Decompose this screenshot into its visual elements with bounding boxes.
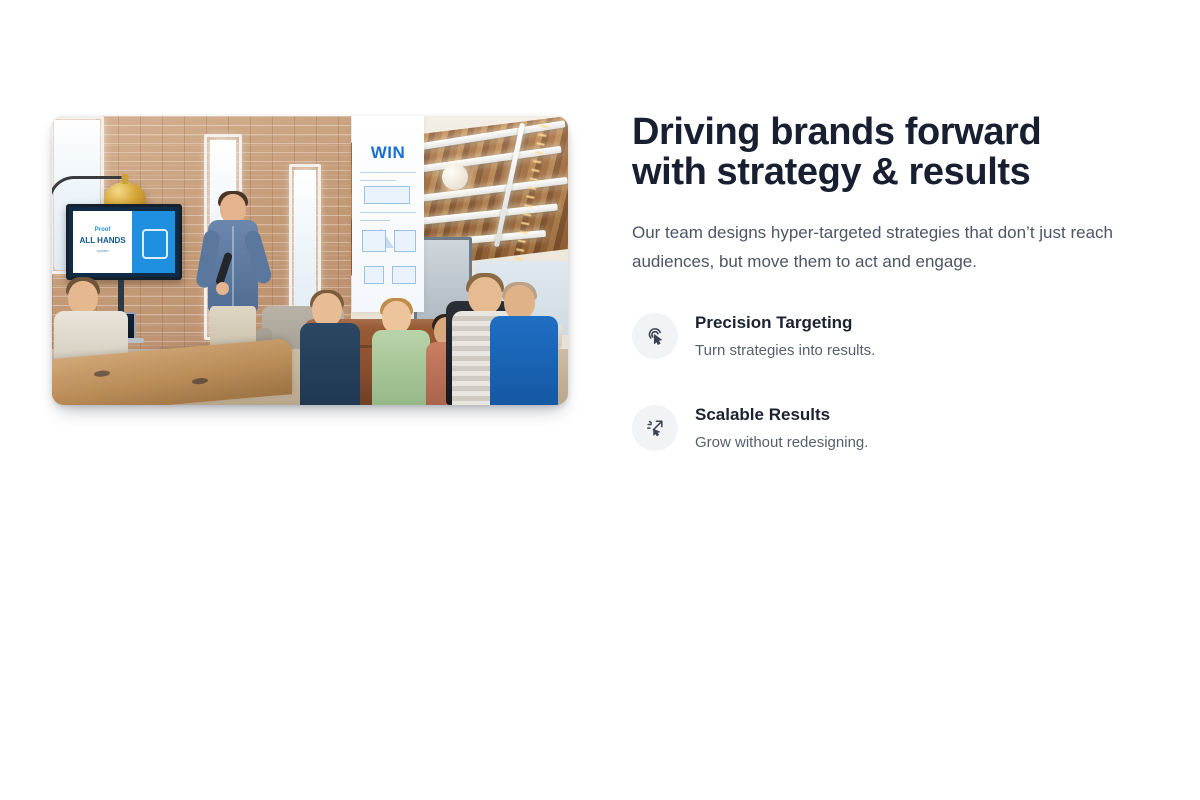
poster-shape [392,266,416,284]
landing-feature-section: WIN Proof ALL HANDS [0,0,1200,800]
feature-item-scalable-results: Scalable Results Grow without redesignin… [632,403,1152,453]
feature-item-precision-targeting: Precision Targeting Turn strategies into… [632,311,1152,361]
slide-right [132,211,175,273]
poster-line [360,220,390,221]
head [68,281,98,315]
audience-member [372,301,434,405]
torso [372,330,430,405]
growth-arrow-icon [632,405,678,451]
feature-text: Scalable Results Grow without redesignin… [695,403,868,453]
hero-image: WIN Proof ALL HANDS [52,116,568,405]
head [312,293,342,327]
slide-caption: update [73,249,132,253]
feature-title: Precision Targeting [695,312,875,334]
presentation-screen: Proof ALL HANDS update [66,204,182,280]
feature-subtitle: Grow without redesigning. [695,433,868,453]
audience-member [300,293,364,405]
feature-list: Precision Targeting Turn strategies into… [632,311,1152,453]
poster-shape [362,230,386,252]
cursor-click-icon [632,313,678,359]
table-object [94,370,110,377]
headline-line-1: Driving brands forward [632,111,1041,153]
headline-line-2: with strategy & results [632,152,1152,192]
poster-line [360,212,416,213]
slide-left: Proof ALL HANDS update [73,211,132,273]
section-description: Our team designs hyper-targeted strategi… [632,218,1148,276]
section-content: Driving brands forward with strategy & r… [632,112,1152,453]
torso [300,323,360,405]
wall-poster: WIN [352,116,424,312]
feature-title: Scalable Results [695,404,868,426]
poster-shape [364,266,384,284]
poster-line [360,180,396,181]
slide-eyebrow: Proof [73,227,132,233]
poster-line [360,172,416,173]
page-title: Driving brands forward with strategy & r… [632,112,1152,192]
slide-title: ALL HANDS [73,237,132,245]
globe-lamp [442,164,468,190]
table-object [192,377,208,384]
poster-shape [364,186,410,204]
slide: Proof ALL HANDS update [73,211,175,273]
poster-shape [394,230,416,252]
feature-text: Precision Targeting Turn strategies into… [695,311,875,361]
poster-word: WIN [371,144,406,161]
feature-subtitle: Turn strategies into results. [695,341,875,361]
audience-member [490,285,560,405]
head [504,285,535,320]
office-meeting-photo: WIN Proof ALL HANDS [52,116,568,405]
torso [490,316,558,405]
presenter-hand [216,282,229,295]
